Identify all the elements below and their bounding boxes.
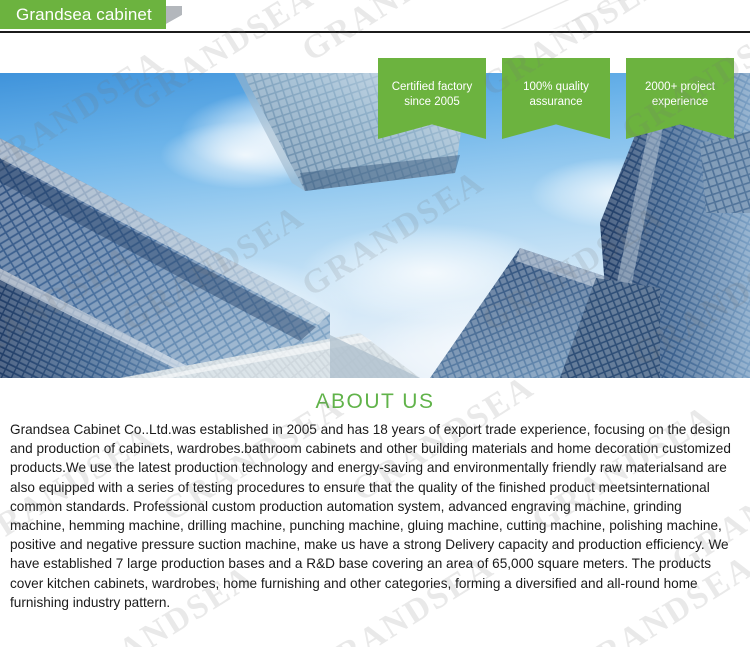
arrow-right-icon-notch [166,6,182,24]
badge-quality-assurance: 100% quality assurance [502,58,610,139]
badge-line-2: assurance [502,95,610,110]
badge-line-1: 2000+ project [626,80,734,95]
badge-certified-factory: Certified factory since 2005 [378,58,486,139]
about-us-title: ABOUT US [0,390,750,414]
badge-line-2: experience [626,95,734,110]
page-header: Grandsea cabinet [0,0,750,31]
badge-line-2: since 2005 [378,95,486,110]
badge-line-1: Certified factory [378,80,486,95]
about-section: ABOUT US Grandsea Cabinet Co..Ltd.was es… [0,378,750,647]
header-decorative-diagonals [200,0,750,29]
about-us-body-text: Grandsea Cabinet Co..Ltd.was established… [0,420,750,612]
badge-line-1: 100% quality [502,80,610,95]
header-divider-rule [0,31,750,33]
header-tab-grandsea-cabinet[interactable]: Grandsea cabinet [0,0,166,29]
hero-badge-group: Certified factory since 2005 100% qualit… [0,58,750,143]
header-tab-label: Grandsea cabinet [16,0,152,29]
badge-project-experience: 2000+ project experience [626,58,734,139]
